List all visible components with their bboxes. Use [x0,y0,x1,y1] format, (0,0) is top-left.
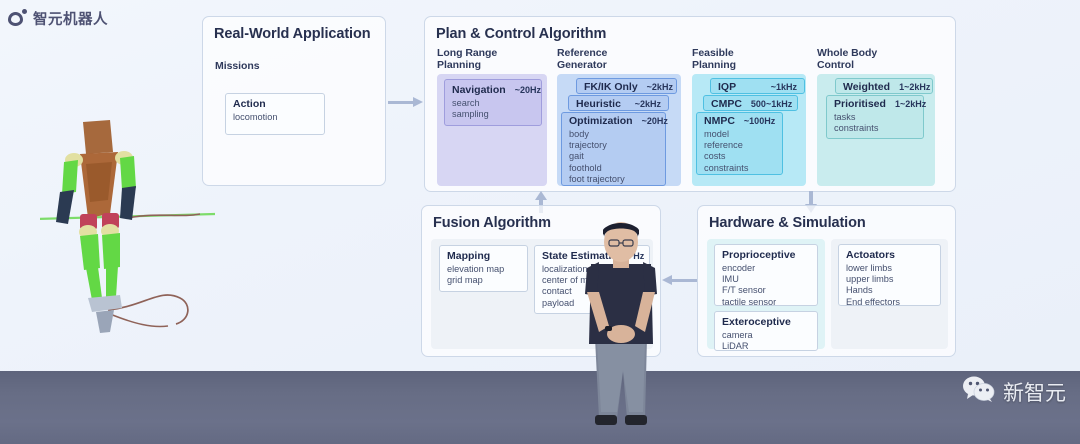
node-proprioceptive-items: encoder IMU F/T sensor tactile sensor [722,263,810,308]
presenter-person [573,222,673,444]
node-prioritised-items: tasks constraints [834,112,916,134]
node-heuristic-title: Heuristic [576,98,621,110]
fusion-title: Fusion Algorithm [433,215,551,231]
node-optimization-freq: ~20Hz [642,116,668,126]
node-prioritised-title: Prioritised [834,98,886,110]
panel-real-world-application: Real-World Application Missions Action l… [202,16,386,186]
node-nmpc-items: model reference costs constraints [704,129,775,174]
real-world-subtitle: Missions [215,61,260,73]
stage-scene: 智元机器人 [0,0,1080,444]
node-weighted-freq: 1~2kHz [899,82,930,92]
node-cmpc[interactable]: CMPC 500~1kHz [703,95,798,111]
node-proprioceptive-title: Proprioceptive [722,249,796,261]
real-world-title: Real-World Application [214,26,371,42]
watermark: 新智元 [962,375,1066,408]
node-actoators[interactable]: Actoators lower limbs upper limbs Hands … [838,244,941,306]
node-navigation-freq: ~20Hz [515,85,541,95]
node-optimization[interactable]: Optimization ~20Hz body trajectory gait … [561,112,666,186]
watermark-text: 新智元 [1003,377,1066,407]
node-exteroceptive-items: camera LiDAR [722,330,810,352]
node-heuristic[interactable]: Heuristic ~2kHz [568,95,669,111]
brand-logo: 智元机器人 [8,8,108,29]
node-action-items: locomotion [233,112,317,123]
node-navigation-title: Navigation [452,84,506,96]
node-prioritised[interactable]: Prioritised 1~2kHz tasks constraints [826,95,924,139]
robot-visualization-image [40,92,215,350]
node-iqp[interactable]: IQP ~1kHz [710,78,805,94]
wechat-icon [962,375,996,408]
node-iqp-freq: ~1kHz [771,82,797,92]
hardware-title: Hardware & Simulation [709,215,866,231]
node-cmpc-freq: 500~1kHz [751,99,792,109]
node-mapping-items: elevation map grid map [447,264,520,286]
col-feasible-planning-label: Feasible Planning [692,48,736,71]
node-nmpc[interactable]: NMPC ~100Hz model reference costs constr… [696,112,783,175]
col-reference-generator-label: Reference Generator [557,48,607,71]
node-proprioceptive[interactable]: Proprioceptive encoder IMU F/T sensor ta… [714,244,818,306]
node-fk-ik-only[interactable]: FK/IK Only ~2kHz [576,78,677,94]
node-action[interactable]: Action locomotion [225,93,325,135]
node-cmpc-title: CMPC [711,98,742,110]
node-navigation-items: search sampling [452,98,534,120]
node-weighted[interactable]: Weighted 1~2kHz [835,78,933,94]
node-mapping[interactable]: Mapping elevation map grid map [439,245,528,292]
node-exteroceptive[interactable]: Exteroceptive camera LiDAR [714,311,818,351]
node-nmpc-title: NMPC [704,115,735,127]
node-nmpc-freq: ~100Hz [744,116,775,126]
col-long-range-planning-label: Long Range Planning [437,48,497,71]
node-optimization-items: body trajectory gait foothold foot traje… [569,129,658,185]
node-actoators-title: Actoators [846,249,895,261]
node-prioritised-freq: 1~2kHz [895,99,926,109]
node-actoators-items: lower limbs upper limbs Hands End effect… [846,263,933,308]
node-exteroceptive-title: Exteroceptive [722,316,791,328]
arrow-realworld-to-plan [388,97,424,108]
node-iqp-title: IQP [718,81,736,93]
panel-hardware-simulation: Hardware & Simulation Proprioceptive enc… [697,205,956,357]
col-whole-body-control-label: Whole Body Control [817,48,877,71]
node-action-item: locomotion [233,112,317,123]
node-mapping-title: Mapping [447,250,490,262]
stage-floor [0,371,1080,444]
node-optimization-title: Optimization [569,115,633,127]
node-fk-ik-only-title: FK/IK Only [584,81,638,93]
brand-name: 智元机器人 [33,8,108,29]
unitree-logo-icon [8,9,27,28]
node-action-title: Action [233,98,266,110]
node-fk-ik-only-freq: ~2kHz [647,82,673,92]
plan-control-title: Plan & Control Algorithm [436,26,606,42]
node-navigation[interactable]: Navigation ~20Hz search sampling [444,79,542,126]
panel-plan-control-algorithm: Plan & Control Algorithm Long Range Plan… [424,16,956,192]
node-weighted-title: Weighted [843,81,890,93]
node-heuristic-freq: ~2kHz [635,99,661,109]
